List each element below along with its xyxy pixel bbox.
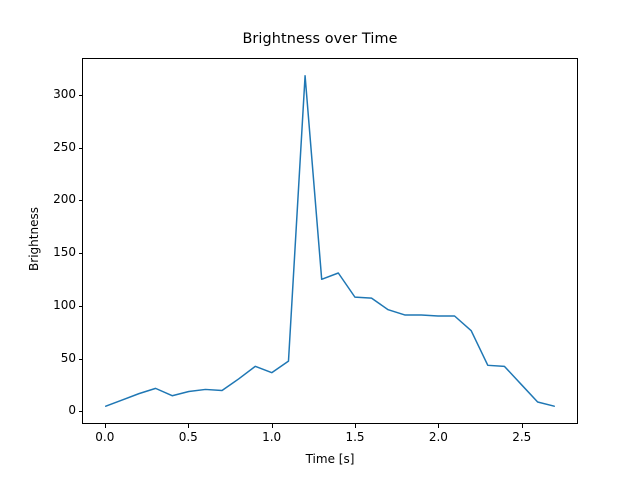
y-tick-mark [79, 200, 83, 201]
plot-axes [82, 58, 578, 424]
x-tick-mark [105, 424, 106, 428]
brightness-series-line [106, 76, 554, 406]
y-tick-label: 300 [53, 87, 76, 101]
y-tick-label: 200 [53, 192, 76, 206]
x-tick-label: 0.0 [75, 430, 135, 444]
y-tick-mark [79, 411, 83, 412]
x-tick-mark [272, 424, 273, 428]
y-tick-label: 250 [53, 140, 76, 154]
x-tick-mark [438, 424, 439, 428]
y-tick-mark [79, 359, 83, 360]
y-tick-mark [79, 148, 83, 149]
x-tick-mark [355, 424, 356, 428]
y-tick-mark [79, 95, 83, 96]
matplotlib-figure: Brightness over Time 050100150200250300 … [0, 0, 640, 480]
x-tick-mark [522, 424, 523, 428]
y-tick-mark [79, 253, 83, 254]
x-tick-label: 2.0 [408, 430, 468, 444]
x-tick-label: 1.5 [325, 430, 385, 444]
y-tick-label: 50 [61, 351, 76, 365]
x-axis-label: Time [s] [82, 452, 578, 466]
y-tick-mark [79, 306, 83, 307]
x-tick-label: 0.5 [158, 430, 218, 444]
y-tick-label: 150 [53, 245, 76, 259]
x-tick-label: 1.0 [242, 430, 302, 444]
x-tick-label: 2.5 [492, 430, 552, 444]
line-plot-svg [83, 59, 577, 423]
x-tick-mark [188, 424, 189, 428]
y-axis-label: Brightness [27, 159, 41, 319]
y-tick-label: 100 [53, 298, 76, 312]
chart-title: Brightness over Time [0, 31, 640, 47]
y-tick-label: 0 [68, 403, 76, 417]
